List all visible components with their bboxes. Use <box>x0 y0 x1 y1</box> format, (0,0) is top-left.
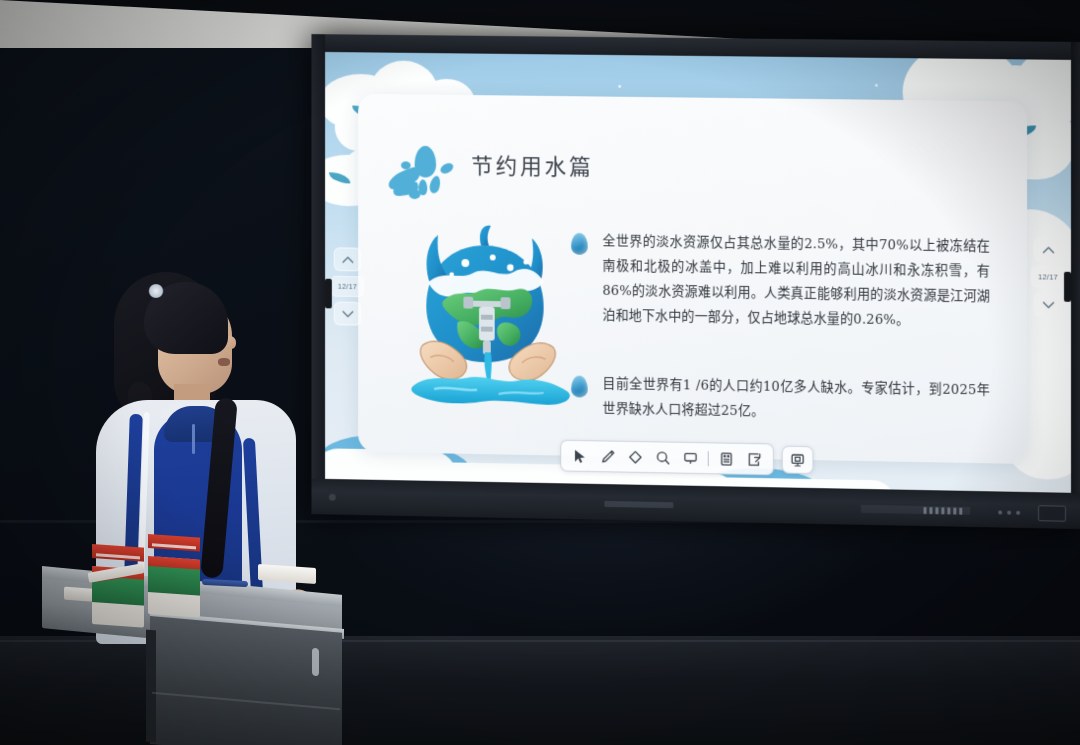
page-nav-right[interactable]: 12/17 <box>1031 237 1065 316</box>
cursor-icon[interactable] <box>566 444 593 468</box>
slide-toolbar[interactable] <box>560 440 813 476</box>
sky-speck <box>875 84 878 87</box>
edge-handle-left[interactable] <box>325 279 332 309</box>
slide-paragraph: 目前全世界有1 /6的人口约10亿多人缺水。专家估计，到2025年世界缺水人口将… <box>571 372 990 429</box>
page-indicator: 12/17 <box>1031 266 1065 287</box>
podium-front-panel <box>150 616 342 745</box>
podium-door-handle[interactable] <box>312 648 319 677</box>
spotlight-icon[interactable] <box>676 446 704 470</box>
qrcode-icon[interactable] <box>713 446 741 470</box>
paragraph-text: 目前全世界有1 /6的人口约10亿多人缺水。专家估计，到2025年世界缺水人口将… <box>602 372 990 428</box>
slide-title: 节约用水篇 <box>471 148 593 181</box>
earth-faucet-hands-illustration <box>409 223 581 410</box>
paragraph-text: 全世界的淡水资源仅占其总水量的2.5%，其中70%以上被冻结在南极和北极的冰盖中… <box>602 229 990 334</box>
interactive-display[interactable]: 节约用水篇 <box>311 34 1080 529</box>
bezel-label <box>604 501 673 508</box>
zipper <box>192 424 195 454</box>
mouth <box>218 358 230 366</box>
prev-page-button[interactable] <box>334 247 361 271</box>
water-drop-bullet <box>571 233 588 255</box>
page-nav-left[interactable]: 12/17 <box>331 247 364 325</box>
sky-speck <box>618 85 621 88</box>
page-indicator: 12/17 <box>331 276 364 297</box>
bezel-left <box>311 34 325 514</box>
next-page-button[interactable] <box>1034 292 1062 316</box>
classroom-scene: 节约用水篇 <box>0 0 1080 745</box>
display-screen[interactable]: 节约用水篇 <box>325 52 1071 493</box>
bezel-indicator-dots <box>998 510 1020 514</box>
toolbar-divider <box>708 451 709 466</box>
toolbar-group[interactable] <box>560 440 774 476</box>
slide-paragraph: 全世界的淡水资源仅占其总水量的2.5%，其中70%以上被冻结在南极和北极的冰盖中… <box>571 229 990 335</box>
eraser-icon[interactable] <box>621 445 649 469</box>
prev-page-button[interactable] <box>1034 237 1062 261</box>
power-led <box>329 494 336 501</box>
slide-text-column: 全世界的淡水资源仅占其总水量的2.5%，其中70%以上被冻结在南极和北极的冰盖中… <box>571 229 990 454</box>
bezel-control-buttons[interactable] <box>924 507 963 515</box>
presentation-slide: 节约用水篇 <box>325 52 1071 493</box>
bezel-right <box>1071 42 1080 529</box>
edge-handle-right[interactable] <box>1064 272 1071 302</box>
water-splash-logo <box>385 145 461 203</box>
presentation-mode-button[interactable] <box>782 446 814 474</box>
water-drop-bullet <box>571 376 588 398</box>
ir-sensor-window <box>1038 505 1066 522</box>
podium-leg <box>146 630 156 743</box>
magnifier-icon[interactable] <box>649 445 677 469</box>
export-icon[interactable] <box>740 447 768 471</box>
hair-clip <box>148 284 164 298</box>
next-page-button[interactable] <box>334 302 361 326</box>
pen-icon[interactable] <box>594 444 621 468</box>
